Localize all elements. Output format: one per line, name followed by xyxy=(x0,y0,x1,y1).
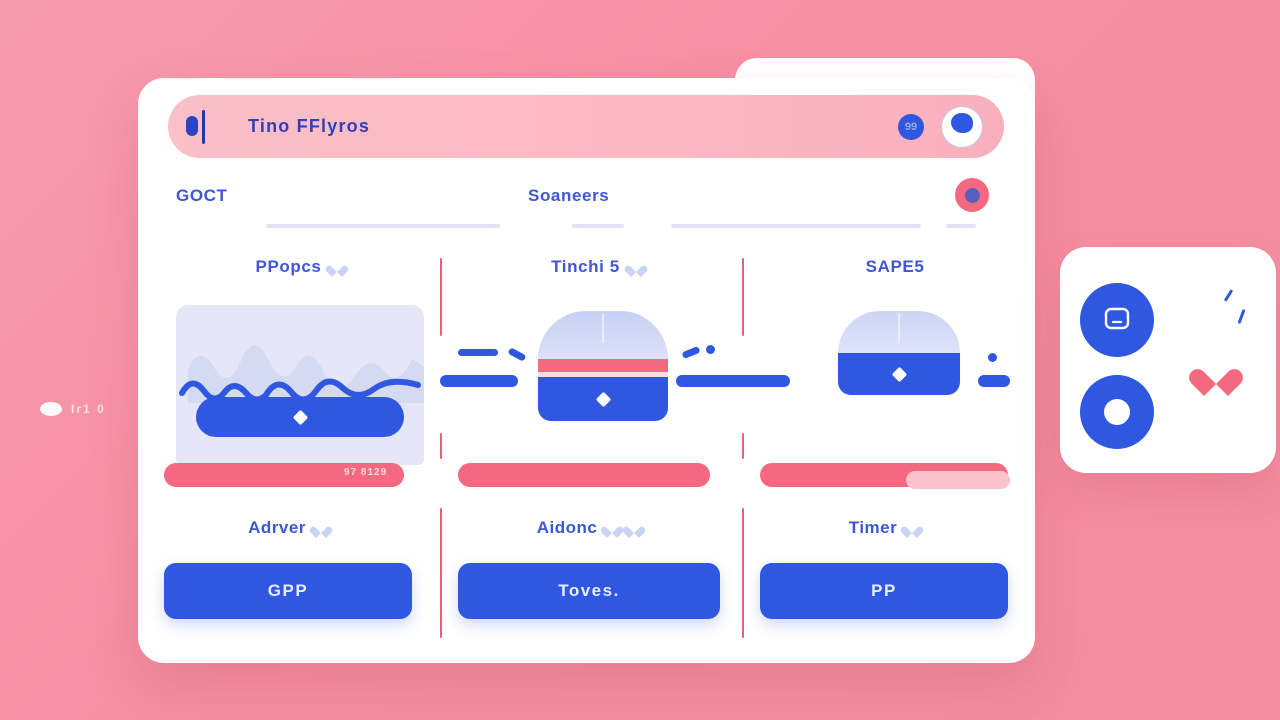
wave-chart xyxy=(176,305,424,465)
progress-bar[interactable] xyxy=(458,463,710,487)
left-marker: Ir1 0 xyxy=(40,402,106,416)
tab-underline xyxy=(266,224,500,228)
panel-sapes[interactable]: SAPE5 xyxy=(760,253,1030,281)
progress-bar-label: 97 8129 xyxy=(344,467,387,478)
header-actions: 99 xyxy=(898,107,982,147)
diamond-icon xyxy=(891,366,907,382)
diamond-icon xyxy=(595,391,611,407)
tab-underline xyxy=(572,224,624,228)
sparkle-tick-icon xyxy=(1224,289,1233,302)
heart-icon[interactable] xyxy=(627,522,641,535)
hill-stripe xyxy=(538,359,668,372)
hill-base[interactable] xyxy=(538,377,668,421)
connector-dot-icon xyxy=(988,353,997,362)
record-ring-icon[interactable] xyxy=(1080,375,1154,449)
progress-bars-row: 97 8129 xyxy=(138,463,1035,493)
action-header: Timer xyxy=(760,513,1008,543)
heart-icon[interactable] xyxy=(330,261,344,274)
page-title: Tino FFlyros xyxy=(248,116,370,137)
progress-bar-ghost xyxy=(906,471,1010,489)
status-dot[interactable] xyxy=(955,178,989,212)
panel-title: Tinchi 5 xyxy=(551,257,620,277)
header-search-pill[interactable]: Tino FFlyros 99 xyxy=(168,95,1004,158)
progress-bar[interactable]: 97 8129 xyxy=(164,463,404,487)
action-title: Adrver xyxy=(248,518,306,538)
tab-bar: GOCT Soaneers xyxy=(138,178,1035,240)
action-timer: Timer PP xyxy=(760,513,1008,619)
connector-bar-icon xyxy=(716,375,790,387)
tab-underline xyxy=(946,224,976,228)
floating-side-panel xyxy=(1060,247,1276,473)
heart-icon[interactable] xyxy=(629,261,643,274)
panel-header: Tinchi 5 xyxy=(458,253,736,281)
gpp-button[interactable]: GPP xyxy=(164,563,412,619)
tab-soaneers[interactable]: Soaneers xyxy=(528,186,609,206)
panels-row: PPopcs Tinchi 5 xyxy=(138,253,1035,483)
chat-bubble-icon[interactable] xyxy=(1080,283,1154,357)
connector-dot-icon xyxy=(706,345,715,354)
connector-dash-icon xyxy=(681,346,700,359)
action-title: Aidonc xyxy=(537,518,598,538)
tab-underline xyxy=(671,224,921,228)
panel-header: PPopcs xyxy=(164,253,436,281)
sparkle-tick-icon xyxy=(1238,309,1246,324)
connector-bar-icon xyxy=(978,375,1010,387)
connector-dash-icon xyxy=(458,349,498,356)
diamond-icon xyxy=(292,409,308,425)
menu-bar-icon[interactable] xyxy=(186,110,212,144)
hill-top xyxy=(838,311,960,353)
hill-widget[interactable] xyxy=(838,311,960,407)
action-header: Aidonc xyxy=(458,513,720,543)
oval-dot-icon xyxy=(40,402,62,416)
panel-title: PPopcs xyxy=(256,257,322,277)
panel-action-pill[interactable] xyxy=(196,397,404,437)
notification-badge[interactable]: 99 xyxy=(898,114,924,140)
hill-top xyxy=(538,311,668,359)
left-marker-label: Ir1 0 xyxy=(71,402,106,416)
hill-base[interactable] xyxy=(838,353,960,395)
avatar[interactable] xyxy=(942,107,982,147)
action-adrver: Adrver GPP xyxy=(164,513,412,619)
panel-header: SAPE5 xyxy=(760,253,1030,281)
actions-row: Adrver GPP Aidonc Toves. Timer PP xyxy=(138,513,1035,643)
connector-bar-icon xyxy=(440,375,518,387)
panel-tinchi[interactable]: Tinchi 5 xyxy=(458,253,736,281)
connector-dash-icon xyxy=(507,347,526,362)
panel-ppopcs[interactable]: PPopcs xyxy=(164,253,436,281)
pp-button[interactable]: PP xyxy=(760,563,1008,619)
hill-widget[interactable] xyxy=(538,311,668,413)
heart-icon[interactable] xyxy=(905,522,919,535)
tab-goct[interactable]: GOCT xyxy=(176,186,228,206)
heart-icon[interactable] xyxy=(314,522,328,535)
toves-button[interactable]: Toves. xyxy=(458,563,720,619)
action-aidonc: Aidonc Toves. xyxy=(458,513,720,619)
main-window: Tino FFlyros 99 GOCT Soaneers PPopcs xyxy=(138,78,1035,663)
heart-icon[interactable] xyxy=(1199,358,1233,389)
action-header: Adrver xyxy=(164,513,412,543)
action-title: Timer xyxy=(849,518,898,538)
heart-icon[interactable] xyxy=(605,522,619,535)
chat-bubble-glyph xyxy=(1102,306,1132,334)
panel-title: SAPE5 xyxy=(866,257,925,277)
